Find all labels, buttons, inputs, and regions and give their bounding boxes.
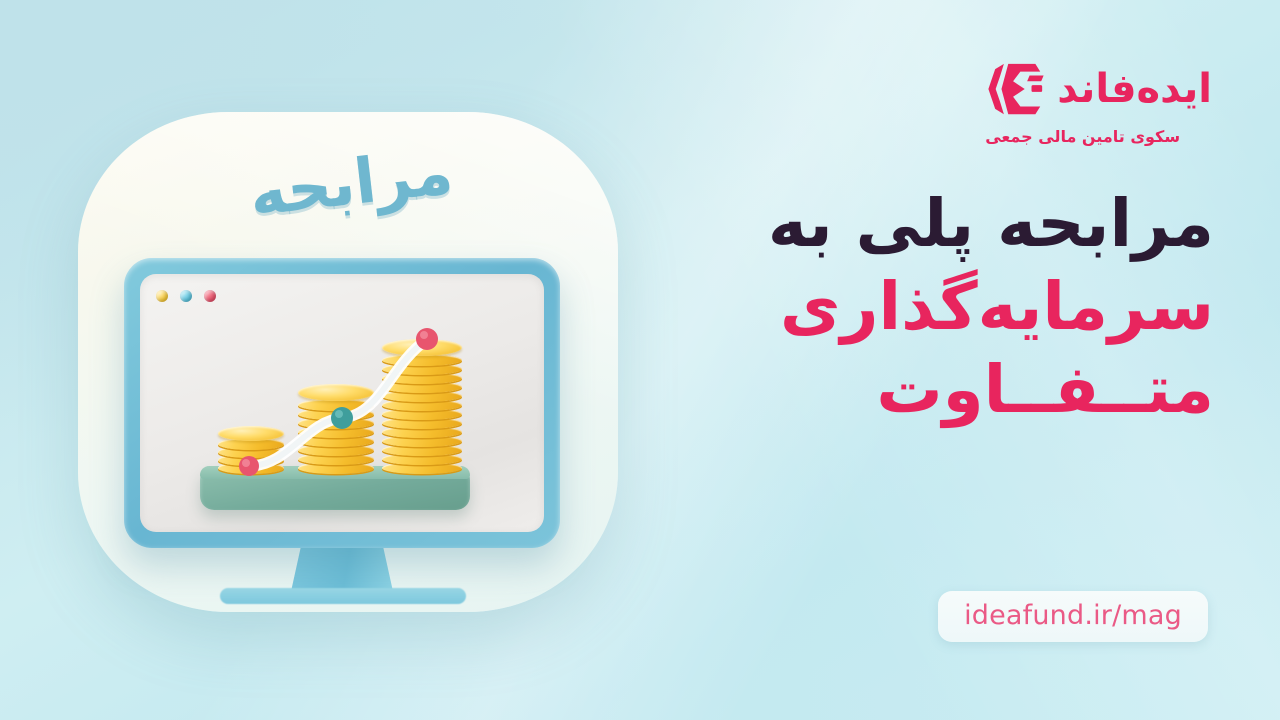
start-marker — [239, 456, 259, 476]
illustration-area: مرابحه — [0, 0, 660, 720]
logo-tagline: سکوی تامین مالی جمعی — [985, 127, 1180, 146]
trend-line-graphic — [194, 296, 514, 526]
minimize-dot — [180, 290, 192, 302]
end-marker — [416, 328, 438, 350]
coin-chart-scene — [194, 296, 514, 526]
brand-logo[interactable]: ایده‌فاند سکوی تامین مالی جمعی — [985, 58, 1212, 146]
headline-block: مرابحه پلی به سرمایه‌گذاری متــفــاوت — [714, 182, 1214, 431]
logo-row: ایده‌فاند — [985, 58, 1212, 120]
monitor-illustration — [124, 258, 560, 598]
maximize-dot — [156, 290, 168, 302]
banner-stage: مرابحه — [0, 0, 1280, 720]
url-badge[interactable]: ideafund.ir/mag — [938, 591, 1208, 642]
monitor-bezel — [124, 258, 560, 548]
url-text: ideafund.ir/mag — [964, 600, 1182, 631]
monitor-foot — [220, 588, 466, 604]
content-area: ایده‌فاند سکوی تامین مالی جمعی مرابحه پل… — [660, 0, 1280, 720]
headline-line-2: سرمایه‌گذاری — [714, 265, 1214, 348]
hexagon-sigma-logo-icon — [985, 58, 1047, 120]
monitor-screen — [140, 274, 544, 532]
mid-marker — [331, 407, 353, 429]
headline-line-3: متــفــاوت — [714, 348, 1214, 431]
logo-wordmark: ایده‌فاند — [1057, 69, 1212, 109]
headline-line-1: مرابحه پلی به — [714, 182, 1214, 265]
